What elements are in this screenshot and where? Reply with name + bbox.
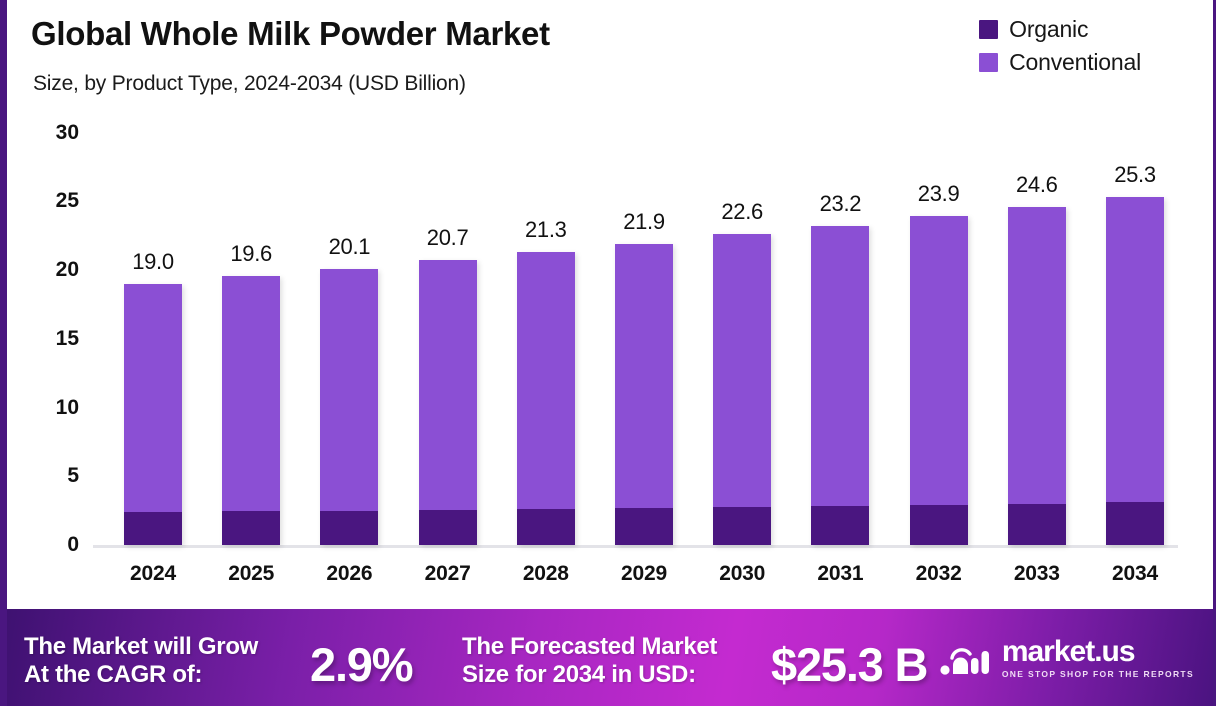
bar-group[interactable]: 24.62033 [1008, 0, 1066, 606]
chart-infographic: Global Whole Milk Powder Market Size, by… [0, 0, 1216, 706]
bar-value-label: 25.3 [1075, 162, 1195, 188]
stacked-bar[interactable] [910, 216, 968, 545]
bar-segment-organic[interactable] [615, 508, 673, 545]
bar-segment-organic[interactable] [517, 509, 575, 545]
bar-segment-conventional[interactable] [1008, 207, 1066, 504]
bar-segment-organic[interactable] [713, 507, 771, 546]
y-axis-tick: 10 [31, 396, 79, 420]
cagr-label-line2: At the CAGR of: [24, 661, 202, 688]
bar-group[interactable]: 20.12026 [320, 0, 378, 606]
stacked-bar[interactable] [124, 284, 182, 545]
stacked-bar[interactable] [419, 260, 477, 545]
bar-group[interactable]: 20.72027 [419, 0, 477, 606]
stacked-bar[interactable] [811, 226, 869, 545]
bar-segment-conventional[interactable] [713, 234, 771, 506]
bar-segment-conventional[interactable] [517, 252, 575, 509]
y-axis-tick: 25 [31, 189, 79, 213]
stacked-bar[interactable] [713, 234, 771, 545]
stacked-bar[interactable] [222, 276, 280, 546]
bar-segment-conventional[interactable] [910, 216, 968, 505]
bar-chart-plot: 051015202530 19.0202419.6202520.1202620.… [7, 0, 1216, 606]
bar-group[interactable]: 19.02024 [124, 0, 182, 606]
market-us-logo-icon [939, 638, 993, 678]
bar-segment-organic[interactable] [1106, 502, 1164, 545]
bar-segment-conventional[interactable] [124, 284, 182, 512]
bar-group[interactable]: 22.62030 [713, 0, 771, 606]
stacked-bar[interactable] [517, 252, 575, 545]
forecast-size-label-line2: Size for 2034 in USD: [462, 661, 696, 688]
x-axis-label: 2034 [1075, 562, 1195, 586]
y-axis-tick: 20 [31, 258, 79, 282]
cagr-label-line1: The Market will Grow [24, 633, 258, 660]
bar-group[interactable]: 21.92029 [615, 0, 673, 606]
summary-banner: The Market will Grow At the CAGR of: 2.9… [0, 609, 1216, 706]
bar-segment-conventional[interactable] [222, 276, 280, 512]
stacked-bar[interactable] [1008, 207, 1066, 545]
cagr-label: The Market will Grow At the CAGR of: [24, 633, 258, 690]
bar-segment-organic[interactable] [910, 505, 968, 545]
bar-segment-organic[interactable] [419, 510, 477, 545]
bar-segment-conventional[interactable] [320, 269, 378, 511]
bar-segment-conventional[interactable] [811, 226, 869, 506]
bar-segment-organic[interactable] [124, 512, 182, 545]
bar-segment-organic[interactable] [811, 506, 869, 545]
bar-group[interactable]: 21.32028 [517, 0, 575, 606]
cagr-value: 2.9% [310, 637, 412, 692]
bar-segment-conventional[interactable] [1106, 197, 1164, 502]
y-axis-tick: 15 [31, 327, 79, 351]
y-axis-tick: 30 [31, 121, 79, 145]
bar-segment-conventional[interactable] [419, 260, 477, 510]
bar-segment-conventional[interactable] [615, 244, 673, 508]
bar-segment-organic[interactable] [320, 511, 378, 545]
bar-segment-organic[interactable] [1008, 504, 1066, 545]
stacked-bar[interactable] [320, 269, 378, 545]
bar-group[interactable]: 25.32034 [1106, 0, 1164, 606]
stacked-bar[interactable] [615, 244, 673, 545]
forecast-size-value: $25.3 B [771, 637, 927, 692]
stacked-bar[interactable] [1106, 197, 1164, 545]
bar-segment-organic[interactable] [222, 511, 280, 545]
logo-tagline: ONE STOP SHOP FOR THE REPORTS [1002, 670, 1194, 679]
bar-group[interactable]: 23.92032 [910, 0, 968, 606]
logo-name: market.us [1002, 637, 1194, 667]
y-axis-tick: 5 [31, 464, 79, 488]
brand-logo[interactable]: market.us ONE STOP SHOP FOR THE REPORTS [939, 637, 1194, 679]
forecast-size-label: The Forecasted Market Size for 2034 in U… [462, 633, 717, 690]
bar-group[interactable]: 19.62025 [222, 0, 280, 606]
bar-group[interactable]: 23.22031 [811, 0, 869, 606]
y-axis-tick: 0 [31, 533, 79, 557]
forecast-size-label-line1: The Forecasted Market [462, 633, 717, 660]
